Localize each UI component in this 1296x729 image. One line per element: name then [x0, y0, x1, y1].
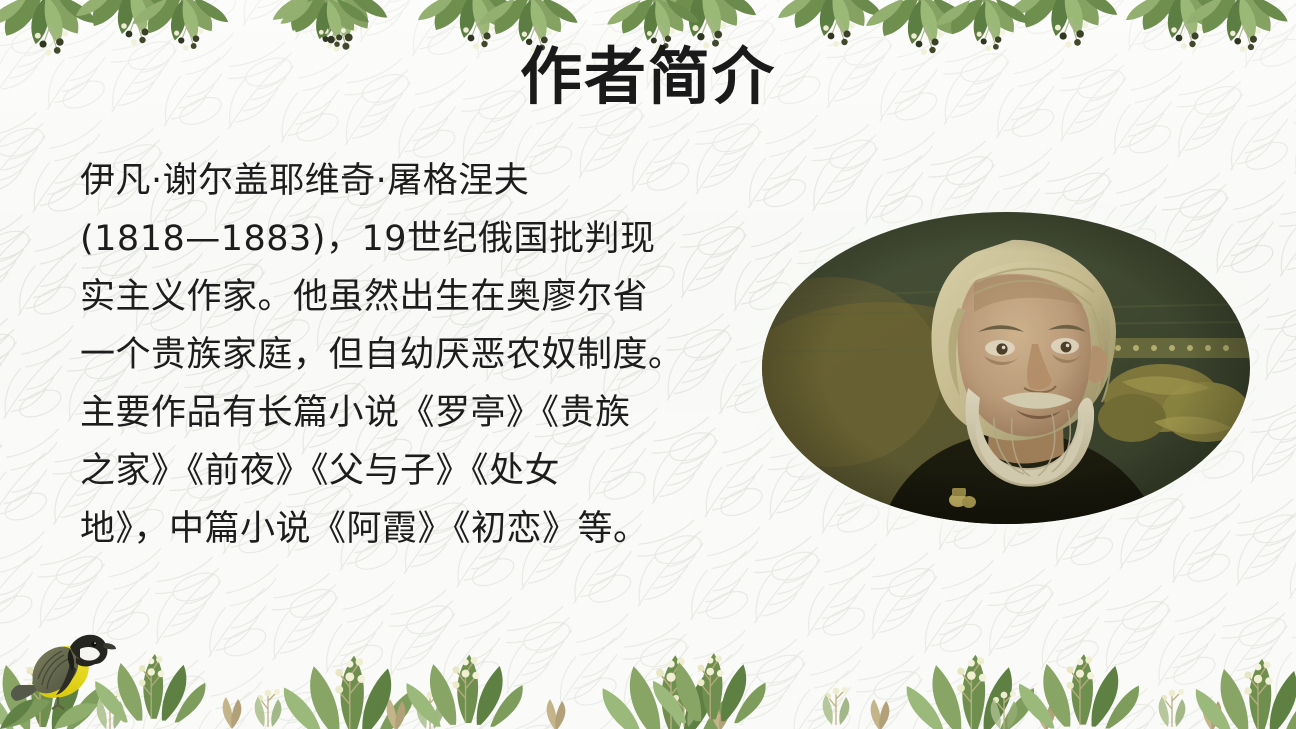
body-line-7: 地》，中篇小说《阿霞》《初恋》等。: [80, 500, 770, 558]
body-line-6: 之家》《前夜》《父与子》《处女: [80, 442, 770, 500]
page-title: 作者简介: [0, 44, 1296, 109]
body-line-4: 一个贵族家庭，但自幼厌恶农奴制度。: [80, 326, 770, 384]
body-line-3: 实主义作家。他虽然出生在奥廖尔省: [80, 268, 770, 326]
body-line-5: 主要作品有长篇小说《罗亭》《贵族: [80, 384, 770, 442]
body-line-1: 伊凡·谢尔盖耶维奇·屠格涅夫: [80, 152, 770, 210]
slide-canvas: 作者简介 伊凡·谢尔盖耶维奇·屠格涅夫 (1818—1883)，19世纪俄国批判…: [0, 0, 1296, 729]
author-portrait: [762, 212, 1250, 524]
body-line-2: (1818—1883)，19世纪俄国批判现: [80, 210, 770, 268]
body-paragraph: 伊凡·谢尔盖耶维奇·屠格涅夫 (1818—1883)，19世纪俄国批判现 实主义…: [80, 152, 770, 558]
